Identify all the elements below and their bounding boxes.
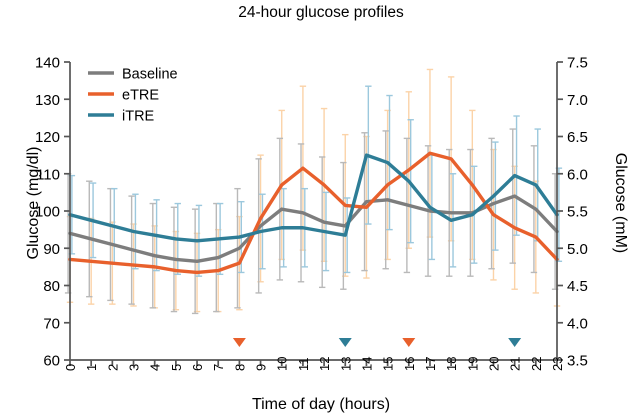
y-tick-label-right: 5.0 — [567, 241, 588, 258]
itre-marker-21-icon — [508, 338, 521, 347]
y-tick-label-left: 90 — [43, 241, 60, 258]
x-tick-label: 9 — [254, 364, 269, 371]
x-tick-label: 13 — [338, 357, 353, 371]
etre-marker-8-icon — [233, 338, 246, 347]
y-tick-label-right: 3.5 — [567, 353, 588, 370]
plot-area: 607080901001101201301403.54.04.55.05.56.… — [0, 0, 642, 420]
y-tick-label-right: 6.0 — [567, 166, 588, 183]
legend-label-itre: iTRE — [122, 109, 155, 125]
x-tick-label: 1 — [84, 364, 99, 371]
x-tick-label: 21 — [508, 357, 523, 371]
error-bars-baseline — [65, 129, 558, 313]
y-tick-label-left: 80 — [43, 278, 60, 295]
x-tick-label: 12 — [317, 357, 332, 371]
y-tick-label-left: 130 — [35, 92, 60, 109]
x-tick-label: 6 — [190, 364, 205, 371]
x-tick-label: 22 — [529, 357, 544, 371]
y-tick-label-left: 100 — [35, 204, 60, 221]
x-tick-label: 17 — [423, 357, 438, 371]
x-tick-label: 20 — [486, 357, 501, 371]
y-tick-label-right: 4.5 — [567, 278, 588, 295]
x-tick-label: 23 — [550, 357, 565, 371]
etre-marker-16-icon — [402, 338, 415, 347]
y-tick-label-right: 7.5 — [567, 55, 588, 72]
y-tick-label-right: 7.0 — [567, 92, 588, 109]
legend: BaselineeTREiTRE — [88, 67, 178, 125]
legend-label-etre: eTRE — [122, 88, 159, 104]
series-line-itre — [70, 155, 557, 241]
itre-marker-13-icon — [339, 338, 352, 347]
x-tick-label: 18 — [444, 357, 459, 371]
y-tick-label-right: 5.5 — [567, 204, 588, 221]
x-tick-label: 14 — [359, 357, 374, 371]
y-tick-label-left: 60 — [43, 353, 60, 370]
y-tick-label-left: 70 — [43, 315, 60, 332]
x-tick-label: 3 — [127, 364, 142, 371]
error-bars-etre — [67, 69, 560, 311]
x-tick-label: 8 — [232, 364, 247, 371]
y-tick-label-left: 120 — [35, 129, 60, 146]
x-tick-label: 4 — [148, 364, 163, 371]
x-tick-label: 15 — [381, 357, 396, 371]
y-tick-label-left: 110 — [36, 166, 60, 183]
x-tick-label: 19 — [465, 357, 480, 371]
y-tick-label-right: 6.5 — [567, 129, 588, 146]
x-tick-label: 5 — [169, 364, 184, 371]
x-tick-label: 2 — [105, 364, 120, 371]
y-tick-label-left: 140 — [35, 55, 60, 72]
x-tick-label: 16 — [402, 357, 417, 371]
y-tick-label-right: 4.0 — [567, 315, 588, 332]
legend-label-baseline: Baseline — [122, 67, 178, 83]
x-tick-label: 0 — [63, 364, 78, 371]
x-tick-label: 11 — [296, 358, 311, 372]
x-tick-label: 7 — [211, 364, 226, 371]
x-tick-label: 10 — [275, 357, 290, 371]
chart-figure: 24-hour glucose profiles Glucose (mg/dl)… — [0, 0, 642, 420]
series-line-etre — [70, 153, 557, 272]
